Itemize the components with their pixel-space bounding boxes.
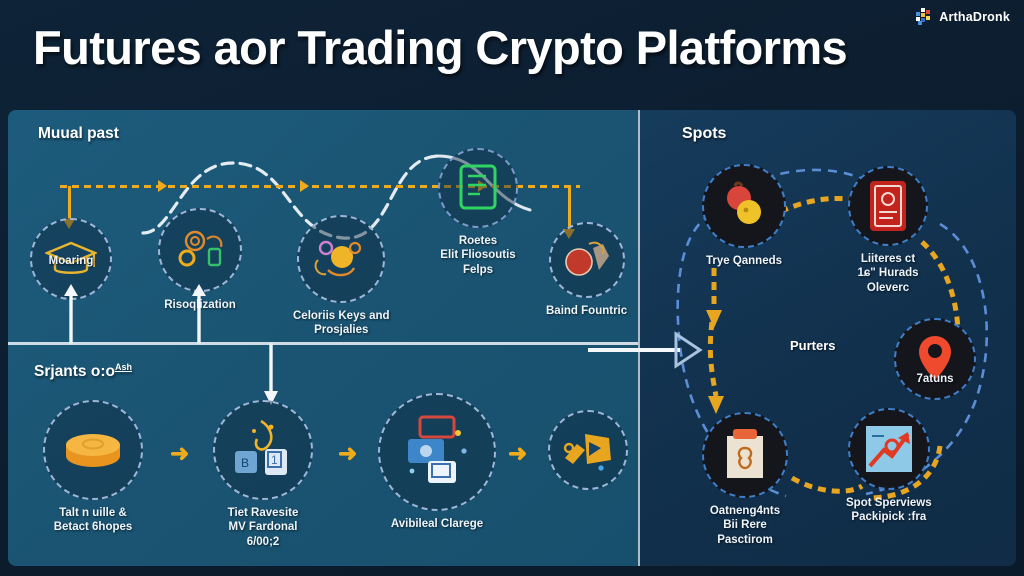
content-board: Muual past Moar [8,110,1016,566]
flow-down-arrow-entry [68,186,71,220]
right-panel: Spots Purt [640,110,1016,566]
right-panel-header: Spots [682,125,726,143]
node-label: Roetes Elit Fliosoutis Felps [440,234,515,277]
flow-arrowhead-1 [158,180,167,192]
node-label: Avibileal Clarege [391,517,483,531]
fruit-cluster-icon [702,164,786,248]
node-label: Tiet Ravesite MV Fardonal 6/00;2 [228,506,299,549]
yellow-machine-icon [548,410,628,490]
red-globe-icon [549,222,625,298]
node-7atuns[interactable]: 7atuns [894,318,976,400]
node-talt-uille[interactable]: Talt n uille & Betact 6hopes [43,400,143,535]
node-label: Spot Sperviews Packipick :fra [846,496,932,525]
incoming-arrow [588,326,704,374]
green-document-icon [438,148,518,228]
node-celoriis-keys[interactable]: Celoriis Keys and Prosjalies [293,215,390,338]
brand-name: ArthaDronk [939,10,1010,24]
gear-brain-icon [158,208,242,292]
node-trye-qanneds[interactable]: Trye Qanneds [702,164,786,268]
clipboard-icon [702,412,788,498]
node-label: Oatneng4nts Bii Rere Pasctirom [710,504,780,547]
svg-text:B: B [241,456,249,470]
page-title: Futures aor Trading Crypto Platforms [33,20,847,75]
step-arrow-3: ➜ [508,442,527,465]
left-panel-header: Muual past [38,125,119,143]
node-label: Liiteres ct 1ɕ" Hurads Oleverc [857,252,918,295]
blue-box-tag-icon: B 1 [213,400,313,500]
node-label: Trye Qanneds [706,254,782,268]
node-label: Talt n uille & Betact 6hopes [54,506,133,535]
lower-section-header-text: Srjants o:o [34,363,115,380]
node-label: Celoriis Keys and Prosjalies [293,309,390,338]
up-arrow-mid [188,282,210,346]
node-roetes-elit[interactable]: Roetes Elit Fliosoutis Felps [438,148,518,277]
flow-arrowhead-2 [300,180,309,192]
node-avibileal-clarege[interactable]: Avibileal Clarege [378,393,496,531]
lower-section-header: Srjants o:oAsh [34,362,132,381]
gold-coin-stack-icon [43,400,143,500]
node-label: 7atuns [916,373,953,385]
left-panel: Muual past Moar [8,110,638,566]
step-arrow-1: ➜ [170,442,189,465]
node-tiet-ravesite[interactable]: B 1 Tiet Ravesite MV Fardonal 6/00;2 [213,400,313,549]
coins-swirl-icon [297,215,385,303]
center-label: Purters [790,338,836,353]
monitor-devices-icon [378,393,496,511]
brand-logo: ArthaDronk [916,8,1010,25]
map-pin-icon: 7atuns [894,318,976,400]
chart-up-icon [848,408,930,490]
up-arrow-left [60,282,82,346]
node-liiteres-ct[interactable]: Liiteres ct 1ɕ" Hurads Oleverc [848,166,928,295]
step-arrow-2: ➜ [338,442,357,465]
node-spot-sperviews[interactable]: Spot Sperviews Packipick :fra [846,408,932,525]
node-baind-fountric[interactable]: Baind Fountric [546,222,627,318]
down-arrow-mid [260,341,282,407]
svg-text:1: 1 [271,453,278,467]
node-yellow-machine[interactable] [548,410,628,496]
slide-root: ArthaDronk Futures aor Trading Crypto Pl… [0,0,1024,576]
node-label: Baind Fountric [546,304,627,318]
lower-section-header-sup: Ash [115,362,132,372]
brand-mark-icon [916,8,933,25]
red-card-icon [848,166,928,246]
section-divider [8,342,638,345]
node-label: Moaring [49,255,94,267]
node-oatneng4nts[interactable]: Oatneng4nts Bii Rere Pasctirom [702,412,788,547]
